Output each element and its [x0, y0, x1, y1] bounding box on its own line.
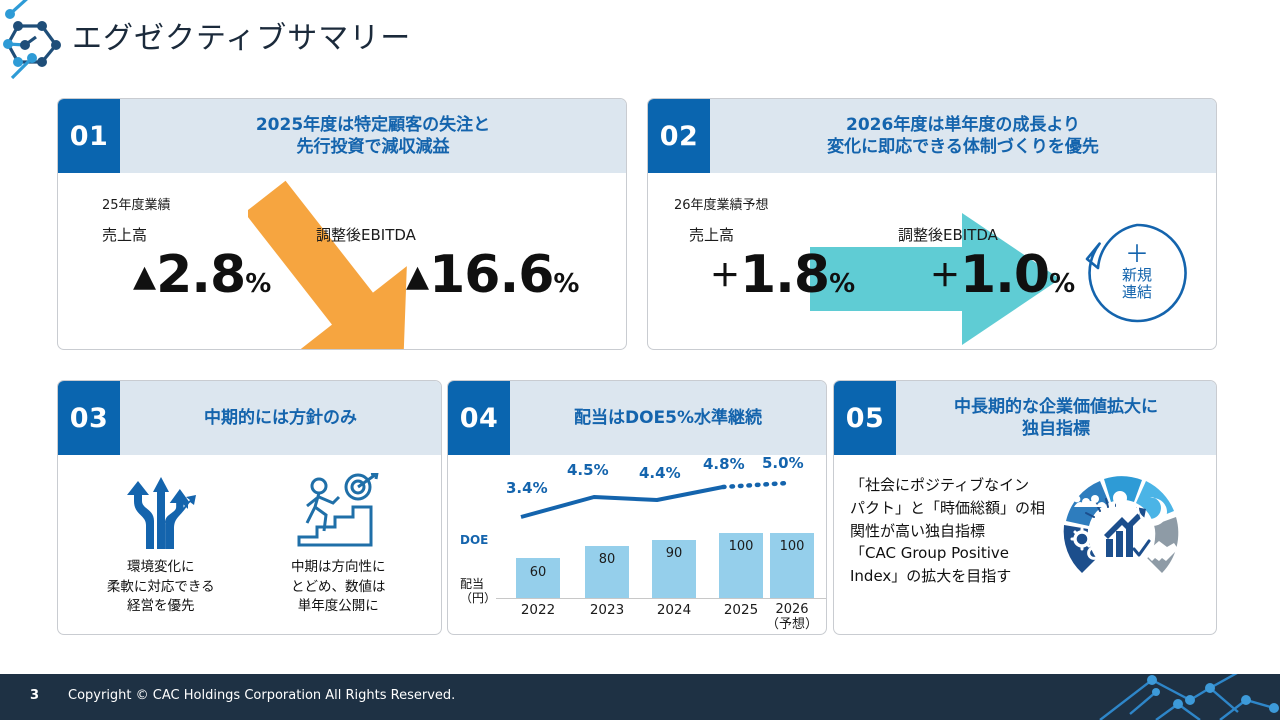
- card-01-metric-1-value: ▲16.6%: [406, 245, 579, 305]
- card-02-number: 02: [648, 99, 710, 173]
- card-01-header: 01 2025年度は特定顧客の失注と 先行投資で減収減益: [58, 99, 626, 173]
- card-03: 03 中期的には方針のみ: [57, 380, 442, 635]
- card-03-item-1-caption: 中期は方向性に とどめ、数値は 単年度公開に: [291, 558, 386, 617]
- dividend-doe-chart: DOE 配当 （円） 3.4% 4.5% 4.4% 4.8% 5.0%: [448, 455, 827, 633]
- chart-x-axis: [496, 598, 826, 599]
- card-01-metric-1-number: 16.6: [429, 245, 553, 305]
- x-label-2022: 2022: [508, 603, 568, 619]
- copyright-text: Copyright © CAC Holdings Corporation All…: [68, 688, 455, 703]
- card-03-item-1: 中期は方向性に とどめ、数値は 単年度公開に: [263, 473, 413, 617]
- card-03-body: 環境変化に 柔軟に対応できる 経営を優先: [58, 455, 441, 617]
- card-02-metric-0-sign: ＋: [710, 259, 740, 294]
- card-03-title: 中期的には方針のみ: [120, 381, 441, 455]
- card-04-body: DOE 配当 （円） 3.4% 4.5% 4.4% 4.8% 5.0%: [448, 455, 826, 633]
- card-03-number: 03: [58, 381, 120, 455]
- card-02-metric-0-label: 売上高: [689, 224, 734, 245]
- card-02: 02 2026年度は単年度の成長より 変化に即応できる体制づくりを優先 26年度…: [647, 98, 1217, 350]
- card-02-title: 2026年度は単年度の成長より 変化に即応できる体制づくりを優先: [710, 99, 1216, 173]
- card-01-metric-0-number: 2.8: [156, 245, 245, 305]
- card-01-metric-0-value: ▲2.8%: [133, 245, 271, 305]
- card-01-metric-1-label: 調整後EBITDA: [316, 224, 416, 245]
- card-01-metric-0-sign: ▲: [133, 259, 156, 294]
- card-05: 05 中長期的な企業価値拡大に 独自指標 「社会にポジティブなイン パクト」と「…: [833, 380, 1217, 635]
- card-01-period-label: 25年度業績: [102, 194, 171, 213]
- card-02-header: 02 2026年度は単年度の成長より 変化に即応できる体制づくりを優先: [648, 99, 1216, 173]
- card-01: 01 2025年度は特定顧客の失注と 先行投資で減収減益 25年度業績 売上高 …: [57, 98, 627, 350]
- plus-sign: ＋: [1125, 244, 1149, 266]
- card-05-header: 05 中長期的な企業価値拡大に 独自指標: [834, 381, 1216, 455]
- callout-line-2: 連結: [1122, 284, 1152, 302]
- card-02-metric-1-sign: ＋: [930, 259, 960, 294]
- card-01-metric-0-unit: %: [245, 269, 271, 299]
- bar-value-2023: 80: [585, 552, 629, 567]
- bar-value-2025: 100: [719, 539, 763, 554]
- card-02-metric-0-unit: %: [829, 269, 855, 299]
- slide: エグゼクティブサマリー 01 2025年度は特定顧客の失注と 先行投資で減収減益…: [0, 0, 1280, 720]
- new-consolidation-callout: ＋ 新規 連結: [1085, 221, 1189, 325]
- branching-arrows-icon: [124, 473, 198, 549]
- bar-value-2026: 100: [770, 539, 814, 554]
- slide-header: エグゼクティブサマリー: [0, 0, 1280, 88]
- card-02-metric-1-label: 調整後EBITDA: [898, 224, 998, 245]
- card-05-description: 「社会にポジティブなイン パクト」と「時価総額」の相 関性が高い独自指標 「CA…: [850, 474, 1055, 588]
- slide-footer: 3 Copyright © CAC Holdings Corporation A…: [0, 674, 1280, 720]
- card-02-period-label: 26年度業績予想: [674, 194, 769, 213]
- page-title: エグゼクティブサマリー: [72, 13, 411, 57]
- page-number: 3: [30, 688, 39, 703]
- card-04: 04 配当はDOE5%水準継続 DOE 配当 （円） 3.4% 4.5% 4.4…: [447, 380, 827, 635]
- card-03-header: 03 中期的には方針のみ: [58, 381, 441, 455]
- card-02-metric-1-unit: %: [1049, 269, 1075, 299]
- new-consolidation-text: ＋ 新規 連結: [1085, 221, 1189, 325]
- card-05-body: 「社会にポジティブなイン パクト」と「時価総額」の相 関性が高い独自指標 「CA…: [834, 455, 1216, 593]
- person-climbing-stairs-target-icon: [295, 473, 381, 549]
- bar-value-2022: 60: [516, 565, 560, 580]
- card-04-header: 04 配当はDOE5%水準継続: [448, 381, 826, 455]
- card-04-number: 04: [448, 381, 510, 455]
- card-04-title: 配当はDOE5%水準継続: [510, 381, 826, 455]
- network-nodes-logo-icon: [0, 0, 62, 92]
- card-01-number: 01: [58, 99, 120, 173]
- card-05-number: 05: [834, 381, 896, 455]
- card-03-item-0: 環境変化に 柔軟に対応できる 経営を優先: [86, 473, 236, 617]
- card-01-metric-1-sign: ▲: [406, 259, 429, 294]
- card-05-title: 中長期的な企業価値拡大に 独自指標: [896, 381, 1216, 455]
- card-02-metric-1-value: ＋1.0%: [930, 245, 1075, 305]
- card-03-item-0-caption: 環境変化に 柔軟に対応できる 経営を優先: [107, 558, 215, 617]
- x-label-2023: 2023: [577, 603, 637, 619]
- card-01-title: 2025年度は特定顧客の失注と 先行投資で減収減益: [120, 99, 626, 173]
- callout-line-1: 新規: [1122, 267, 1152, 285]
- card-02-metric-0-number: 1.8: [740, 245, 829, 305]
- network-nodes-decoration-icon: [1060, 674, 1280, 720]
- x-label-2026: 2026 （予想）: [762, 603, 822, 633]
- card-01-metric-0-label: 売上高: [102, 224, 147, 245]
- positive-index-donut-icon: [1055, 469, 1189, 593]
- bar-value-2024: 90: [652, 546, 696, 561]
- card-02-metric-1-number: 1.0: [960, 245, 1049, 305]
- card-01-metric-1-unit: %: [553, 269, 579, 299]
- x-label-2024: 2024: [644, 603, 704, 619]
- card-02-metric-0-value: ＋1.8%: [710, 245, 855, 305]
